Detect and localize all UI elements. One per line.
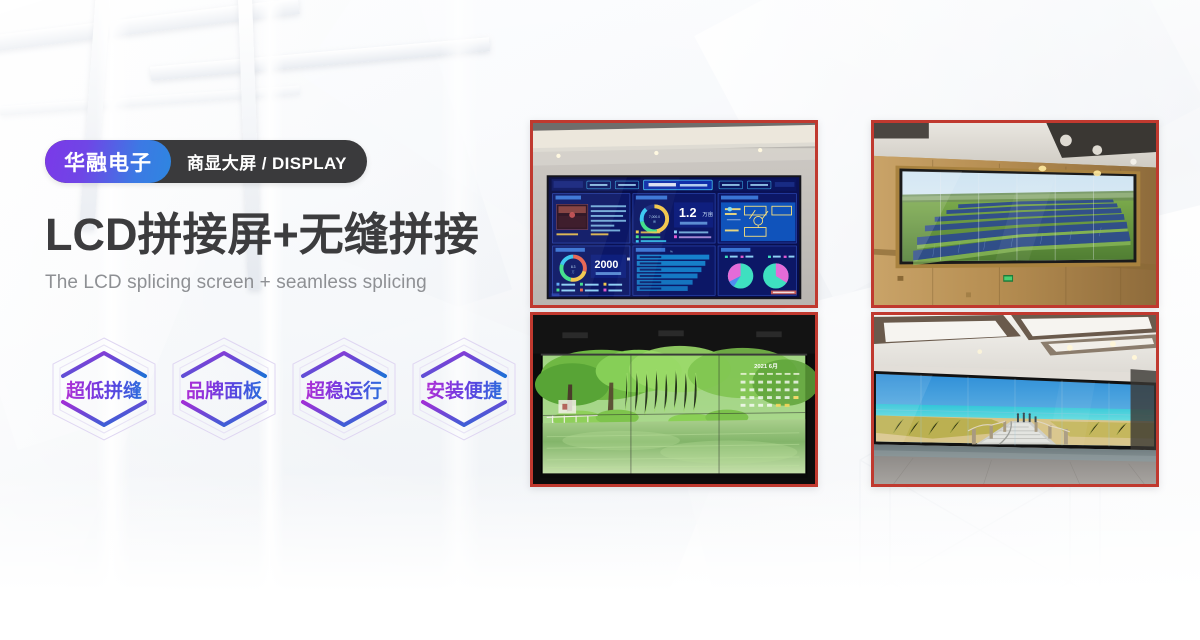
gallery-photo-bottom-right[interactable] [871,312,1159,487]
brand-category: 商显大屏 / DISPLAY [171,140,367,183]
svg-text:%: % [670,250,673,254]
beach-boardwalk-wall-image [874,315,1156,484]
feature-badge-2: 超稳运行 [285,333,403,445]
feature-badge-label: 安装便捷 [426,376,502,403]
page-title: LCD拼接屏+无缝拼接 [45,211,515,260]
brand-badge: 华融电子 商显大屏 / DISPLAY [45,140,367,183]
gallery-photo-bottom-left[interactable]: 2021 6月 [530,312,818,487]
gallery-photo-top-left[interactable]: 7,000.0 亩 1.2 万亩 [530,120,818,308]
brand-name: 华融电子 [45,140,171,183]
gallery-photo-top-right[interactable] [871,120,1159,308]
feature-badge-label: 品牌面板 [186,376,262,403]
svg-text:万亩: 万亩 [702,210,713,218]
background-bottom-fade [0,470,1200,640]
page-subtitle: The LCD splicing screen + seamless splic… [45,272,515,294]
feature-badge-label: 超低拼缝 [66,376,142,403]
feature-badge-0: 超低拼缝 [45,333,163,445]
willow-pond-wall-image: 2021 6月 [533,315,815,484]
svg-text:2021 6月: 2021 6月 [754,362,778,370]
svg-text:1.2: 1.2 [679,206,697,220]
feature-badge-3: 安装便捷 [405,333,523,445]
dashboard-wall-image: 7,000.0 亩 1.2 万亩 [533,123,815,305]
headline-block: 华融电子 商显大屏 / DISPLAY LCD拼接屏+无缝拼接 The LCD … [45,140,515,294]
solar-farm-wall-image [874,123,1156,305]
feature-badge-label: 超稳运行 [306,376,382,403]
promo-banner: 华融电子 商显大屏 / DISPLAY LCD拼接屏+无缝拼接 The LCD … [0,0,1200,640]
feature-badge-list: 超低拼缝 品牌面板 [45,333,523,445]
feature-badge-1: 品牌面板 [165,333,283,445]
